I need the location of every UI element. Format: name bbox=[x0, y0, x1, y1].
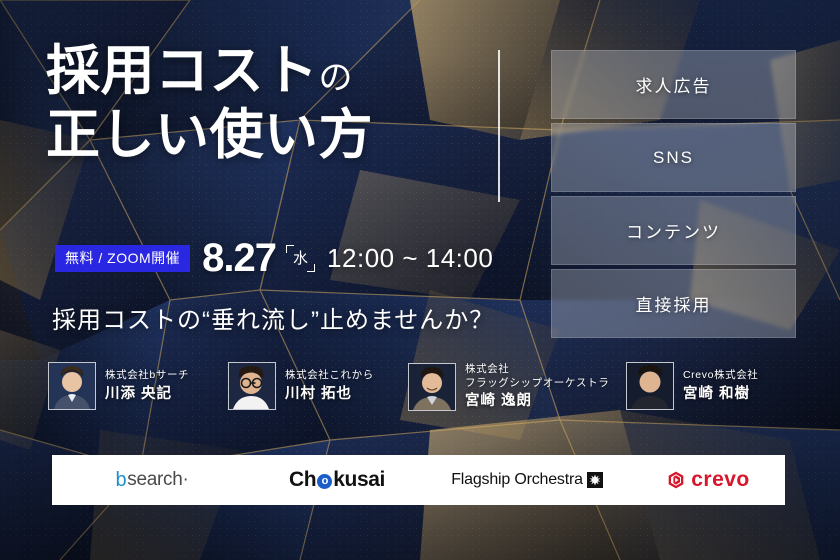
speaker-item: 株式会社bサーチ 川添 央記 bbox=[48, 362, 228, 410]
avatar bbox=[48, 362, 96, 410]
event-day-of-week: 水 bbox=[286, 245, 315, 272]
menu-item-label: SNS bbox=[653, 148, 694, 168]
speaker-item: 株式会社 フラッグシップオーケストラ 宮崎 逸朗 bbox=[408, 362, 626, 411]
speaker-name: 宮崎 和樹 bbox=[683, 385, 758, 404]
speaker-name: 川添 央記 bbox=[105, 385, 189, 404]
chokusai-part2: kusai bbox=[333, 468, 385, 492]
speaker-company: 株式会社 bbox=[465, 362, 609, 376]
menu-item-label: コンテンツ bbox=[626, 218, 721, 243]
bsearch-tail-glyph: · bbox=[183, 469, 189, 491]
category-menu-panel: 求人広告 SNS コンテンツ 直接採用 bbox=[551, 50, 796, 338]
bsearch-wordmark: search bbox=[127, 469, 182, 491]
speaker-company: 株式会社bサーチ bbox=[105, 368, 189, 382]
logo-chokusai: Chokusai bbox=[252, 455, 422, 505]
speaker-text: 株式会社bサーチ 川添 央記 bbox=[105, 368, 189, 403]
speaker-name: 宮崎 逸朗 bbox=[465, 392, 609, 411]
speaker-company-line2: フラッグシップオーケストラ bbox=[465, 376, 609, 390]
speaker-list: 株式会社bサーチ 川添 央記 株式会社これか bbox=[48, 362, 808, 411]
starburst-icon bbox=[587, 472, 603, 488]
logo-bsearch: bsearch· bbox=[52, 455, 252, 505]
subtitle: 採用コストの“垂れ流し”止めませんか？ bbox=[52, 300, 494, 335]
menu-item-contents[interactable]: コンテンツ bbox=[551, 196, 796, 265]
free-zoom-badge: 無料 / ZOOM開催 bbox=[55, 245, 190, 272]
avatar bbox=[408, 363, 456, 411]
logo-flagship-orchestra: Flagship Orchestra bbox=[422, 455, 632, 505]
menu-item-label: 直接採用 bbox=[636, 291, 712, 316]
event-date-row: 無料 / ZOOM開催 8.27 水 12:00 ~ 14:00 bbox=[55, 238, 493, 278]
page-title: 採用コストの 正しい使い方 bbox=[46, 40, 486, 167]
flagship-wordmark: Flagship Orchestra bbox=[451, 471, 583, 489]
vertical-divider bbox=[498, 50, 500, 202]
bsearch-b-glyph: b bbox=[115, 469, 126, 492]
speaker-item: 株式会社これから 川村 拓也 bbox=[228, 362, 408, 410]
crevo-wordmark: crevo bbox=[691, 468, 750, 492]
title-line-2: 正しい使い方 bbox=[46, 104, 486, 168]
chokusai-circle-o-icon: o bbox=[317, 474, 332, 489]
crevo-hexagon-play-icon bbox=[667, 471, 685, 489]
speaker-name: 川村 拓也 bbox=[285, 385, 374, 404]
menu-item-direct-hiring[interactable]: 直接採用 bbox=[551, 269, 796, 338]
speaker-text: 株式会社これから 川村 拓也 bbox=[285, 368, 374, 403]
avatar bbox=[228, 362, 276, 410]
speaker-text: 株式会社 フラッグシップオーケストラ 宮崎 逸朗 bbox=[465, 362, 609, 411]
sponsor-logo-bar: bsearch· Chokusai Flagship Orchestra bbox=[52, 455, 785, 505]
avatar bbox=[626, 362, 674, 410]
event-time: 12:00 ~ 14:00 bbox=[327, 245, 493, 271]
menu-item-label: 求人広告 bbox=[636, 72, 712, 97]
speaker-item: Crevo株式会社 宮崎 和樹 bbox=[626, 362, 806, 410]
title-line-1-suffix: の bbox=[319, 59, 353, 97]
speaker-company: Crevo株式会社 bbox=[683, 368, 758, 382]
logo-crevo: crevo bbox=[632, 455, 785, 505]
title-line-1: 採用コストの bbox=[46, 40, 486, 104]
event-date: 8.27 bbox=[202, 238, 276, 278]
speaker-company: 株式会社これから bbox=[285, 368, 374, 382]
menu-item-sns[interactable]: SNS bbox=[551, 123, 796, 192]
menu-item-job-ads[interactable]: 求人広告 bbox=[551, 50, 796, 119]
speaker-text: Crevo株式会社 宮崎 和樹 bbox=[683, 368, 758, 403]
title-line-1-main: 採用コスト bbox=[46, 41, 319, 101]
webinar-banner: 採用コストの 正しい使い方 求人広告 SNS コンテンツ 直接採用 無料 / Z… bbox=[0, 0, 840, 560]
chokusai-part1: Ch bbox=[289, 468, 316, 492]
